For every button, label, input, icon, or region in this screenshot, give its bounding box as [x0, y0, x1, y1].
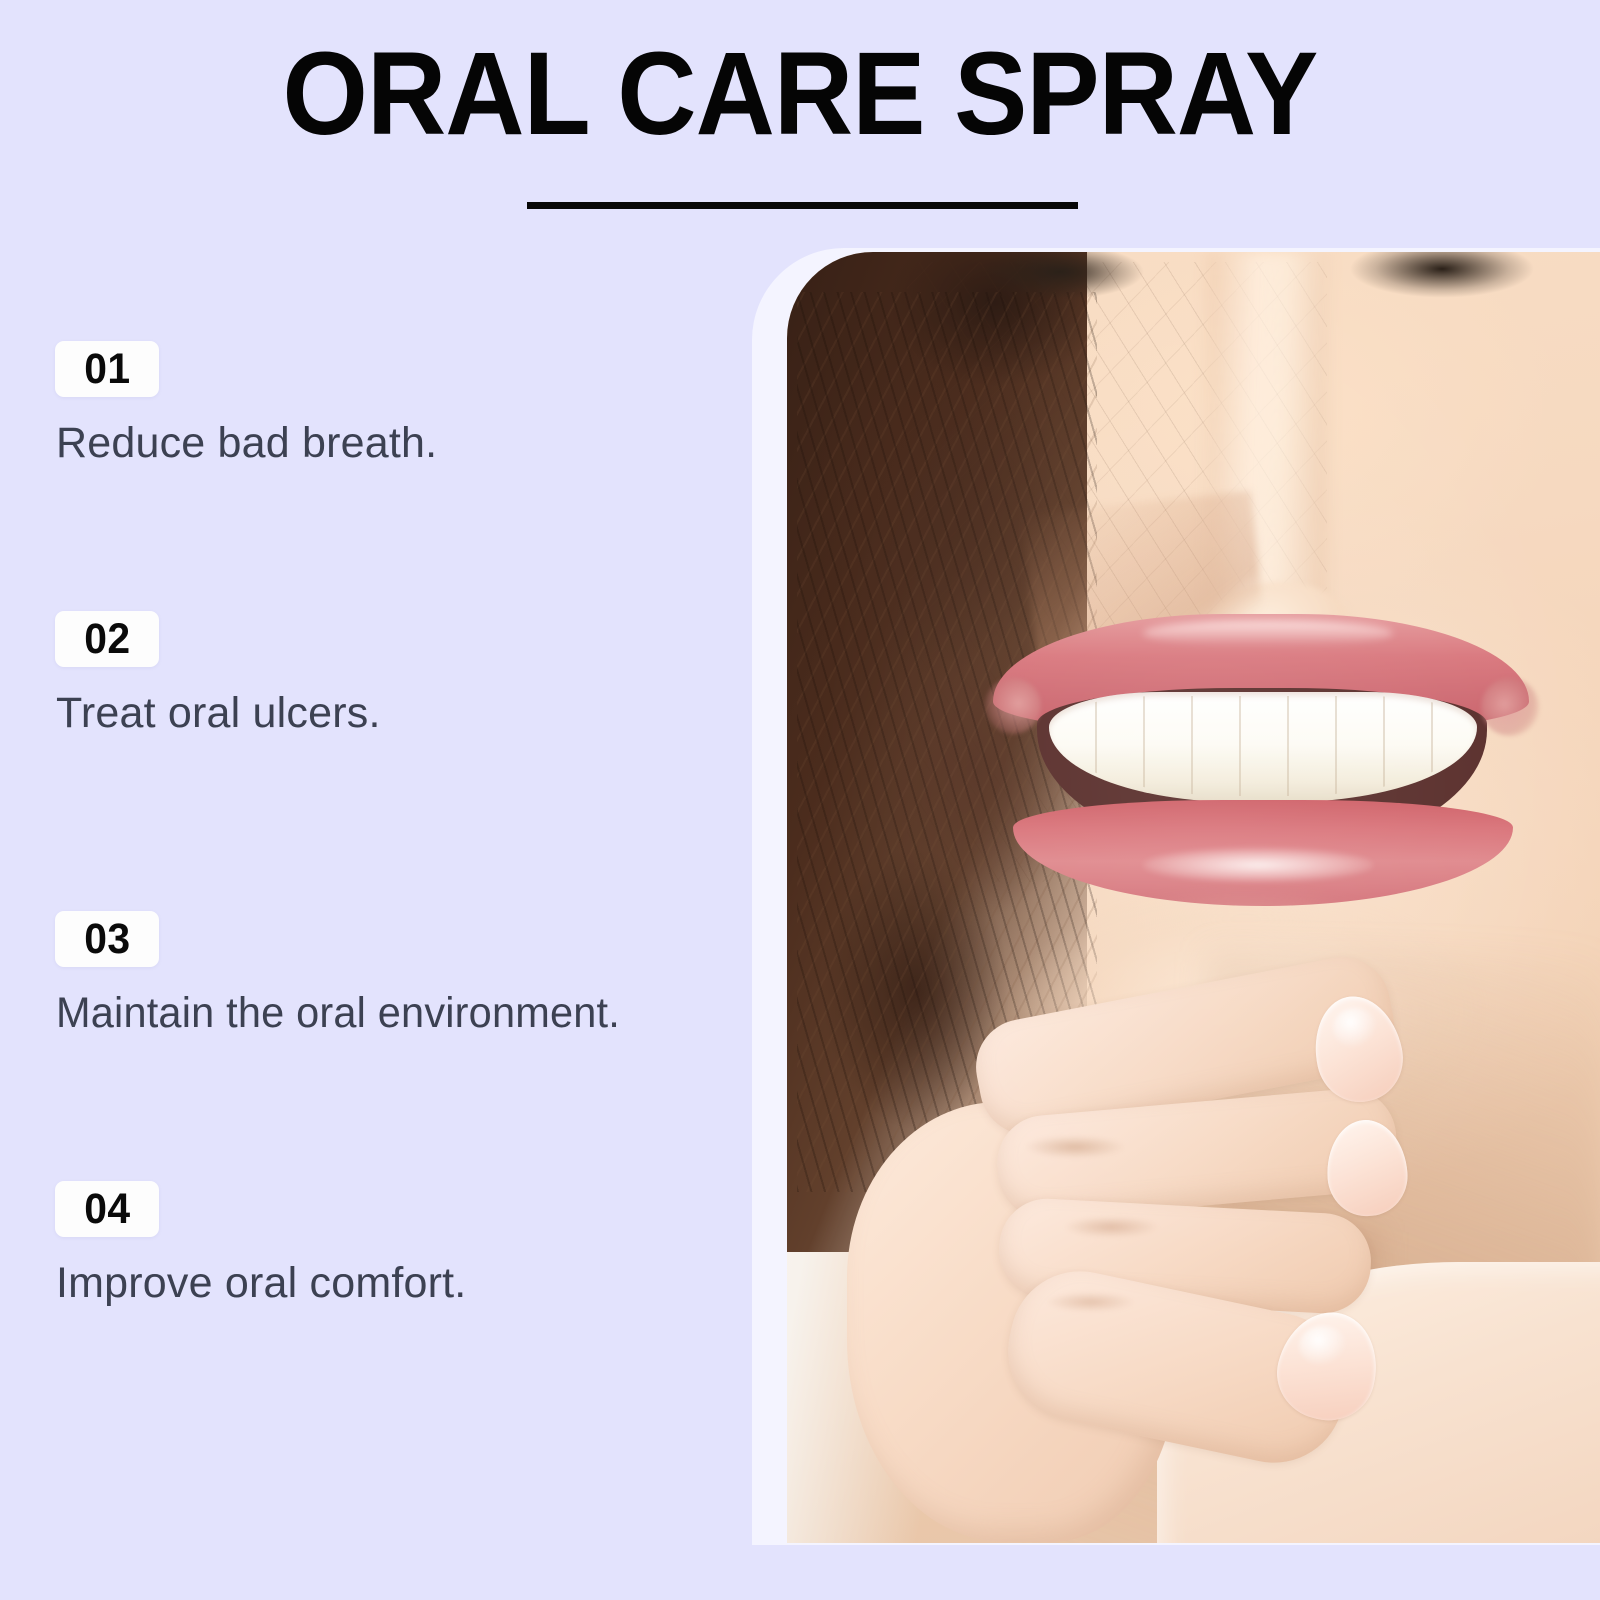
- photo-lip-corner-right: [1481, 678, 1539, 736]
- feature-list: 01 Reduce bad breath. 02 Treat oral ulce…: [0, 0, 760, 1600]
- photo-upper-lip-gloss: [1143, 620, 1393, 646]
- photo-lower-lip-gloss: [1143, 848, 1373, 882]
- feature-description-02: Treat oral ulcers.: [56, 687, 381, 739]
- photo-hand: [847, 952, 1547, 1543]
- feature-description-03: Maintain the oral environment.: [56, 987, 620, 1039]
- photo-eye-right: [1327, 252, 1557, 300]
- product-photo: [787, 252, 1600, 1543]
- feature-number-badge-02: 02: [55, 611, 159, 667]
- photo-nail-highlight-1: [1333, 1008, 1377, 1048]
- photo-nail-highlight-3: [1299, 1326, 1347, 1366]
- photo-smiling-mouth: [993, 604, 1529, 904]
- feature-number-label: 01: [84, 348, 130, 391]
- feature-number-badge-04: 04: [55, 1181, 159, 1237]
- photo-eye-left: [955, 252, 1165, 300]
- photo-knuckle-creases: [997, 1092, 1257, 1342]
- feature-number-label: 02: [84, 618, 130, 661]
- feature-description-01: Reduce bad breath.: [56, 417, 437, 469]
- feature-number-badge-01: 01: [55, 341, 159, 397]
- feature-number-badge-03: 03: [55, 911, 159, 967]
- photo-lip-corner-left: [985, 678, 1041, 734]
- feature-description-04: Improve oral comfort.: [56, 1257, 466, 1309]
- feature-number-label: 03: [84, 918, 130, 961]
- feature-number-label: 04: [84, 1188, 130, 1231]
